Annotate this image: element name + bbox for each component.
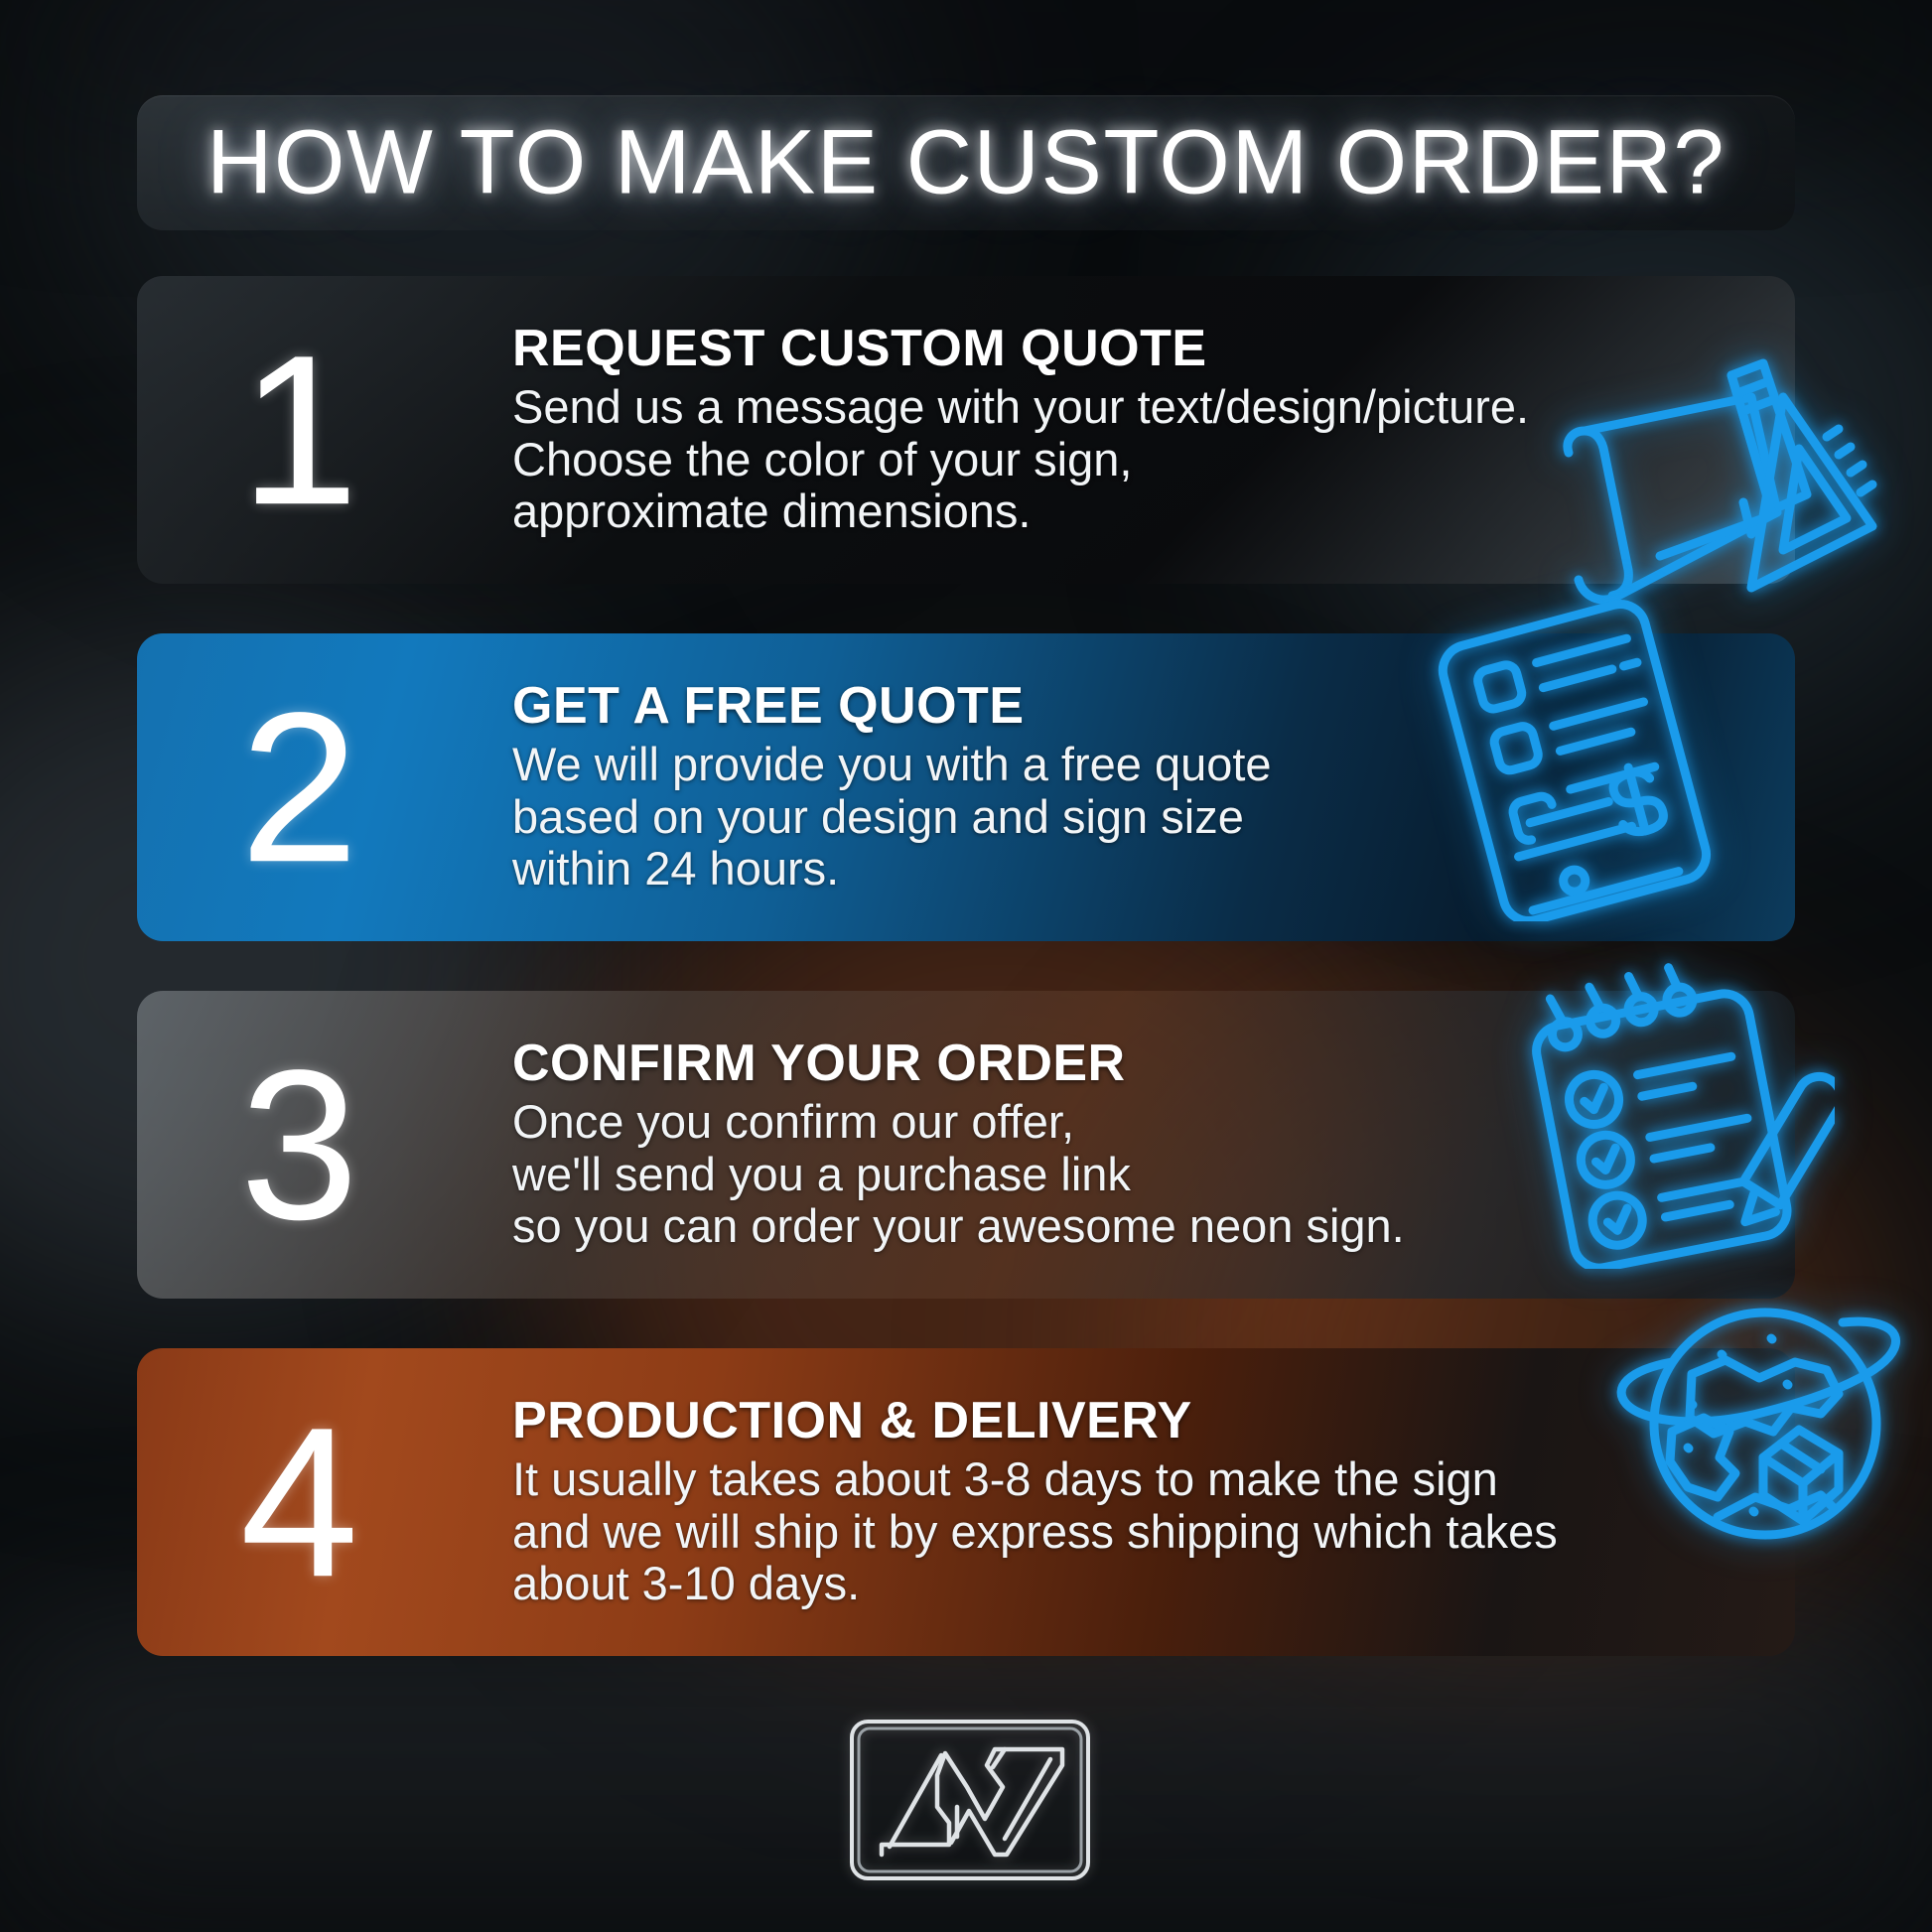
step-card-1: 1 REQUEST CUSTOM QUOTE Send us a message… [137, 276, 1795, 584]
page-title: HOW TO MAKE CUSTOM ORDER? [137, 111, 1795, 215]
step-body-line: based on your design and sign size [512, 791, 1765, 844]
step-body-line: Once you confirm our offer, [512, 1096, 1765, 1149]
step-heading-1: REQUEST CUSTOM QUOTE [512, 322, 1765, 375]
step-number-3: 3 [193, 1048, 406, 1241]
step-text-4: PRODUCTION & DELIVERY It usually takes a… [512, 1394, 1765, 1610]
step-body-line: We will provide you with a free quote [512, 739, 1765, 791]
step-body-1: Send us a message with your text/design/… [512, 381, 1765, 538]
step-card-3: 3 CONFIRM YOUR ORDER Once you confirm ou… [137, 991, 1795, 1299]
step-body-line: approximate dimensions. [512, 485, 1765, 538]
step-body-line: Send us a message with your text/design/… [512, 381, 1765, 434]
step-body-line: so you can order your awesome neon sign. [512, 1200, 1765, 1253]
step-body-line: It usually takes about 3-8 days to make … [512, 1453, 1765, 1506]
step-body-line: and we will ship it by express shipping … [512, 1506, 1765, 1559]
step-body-3: Once you confirm our offer, we'll send y… [512, 1096, 1765, 1253]
step-text-3: CONFIRM YOUR ORDER Once you confirm our … [512, 1036, 1765, 1253]
step-card-4: 4 PRODUCTION & DELIVERY It usually takes… [137, 1348, 1795, 1656]
step-text-1: REQUEST CUSTOM QUOTE Send us a message w… [512, 322, 1765, 538]
step-number-2: 2 [193, 691, 406, 884]
step-body-4: It usually takes about 3-8 days to make … [512, 1453, 1765, 1610]
step-heading-2: GET A FREE QUOTE [512, 679, 1765, 733]
step-card-2: 2 GET A FREE QUOTE We will provide you w… [137, 633, 1795, 941]
step-body-line: within 24 hours. [512, 843, 1765, 896]
step-number-4: 4 [193, 1406, 406, 1598]
step-heading-3: CONFIRM YOUR ORDER [512, 1036, 1765, 1090]
step-body-line: about 3-10 days. [512, 1558, 1765, 1610]
brand-monogram-logo [846, 1716, 1094, 1884]
step-heading-4: PRODUCTION & DELIVERY [512, 1394, 1765, 1448]
step-number-1: 1 [193, 334, 406, 526]
step-body-2: We will provide you with a free quote ba… [512, 739, 1765, 896]
step-body-line: we'll send you a purchase link [512, 1149, 1765, 1201]
step-body-line: Choose the color of your sign, [512, 434, 1765, 486]
step-text-2: GET A FREE QUOTE We will provide you wit… [512, 679, 1765, 896]
infographic-root: HOW TO MAKE CUSTOM ORDER? 1 REQUEST CUST… [0, 0, 1932, 1932]
title-card: HOW TO MAKE CUSTOM ORDER? [137, 95, 1795, 230]
